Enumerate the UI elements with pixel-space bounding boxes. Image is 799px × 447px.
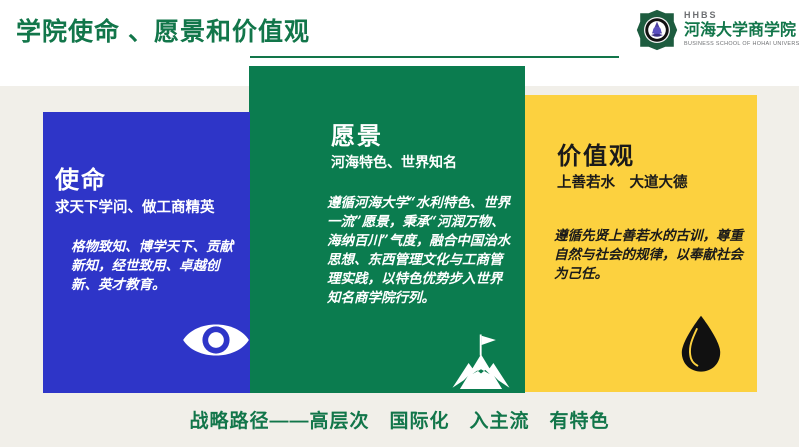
panel-mission-body: 格物致知、博学天下、贡献新知，经世致用、卓越创新、英才教育。 xyxy=(71,238,243,295)
panel-mission-subtitle: 求天下学问、做工商精英 xyxy=(55,196,215,217)
title-divider xyxy=(250,56,619,58)
water-drop-icon xyxy=(677,313,725,375)
panel-vision-subtitle: 河海特色、世界知名 xyxy=(331,152,457,172)
logo-wordmark: HHBS 河海大学商学院 BUSINESS SCHOOL OF HOHAI UN… xyxy=(684,7,794,53)
panel-mission-heading: 使命 xyxy=(55,160,107,195)
footer-strategy-text: 战略路径——高层次 国际化 入主流 有特色 xyxy=(0,406,799,433)
page-title: 学院使命 、愿景和价值观 xyxy=(16,12,310,48)
logo-abbrev: HHBS xyxy=(684,10,794,21)
logo-name-en: BUSINESS SCHOOL OF HOHAI UNIVERSITY xyxy=(684,40,794,48)
logo-name-cn: 河海大学商学院 xyxy=(684,21,794,40)
panel-values-heading: 价值观 xyxy=(557,136,635,171)
mountain-flag-icon xyxy=(450,333,512,393)
eye-icon xyxy=(180,315,252,365)
institution-logo: HHBS 河海大学商学院 BUSINESS SCHOOL OF HOHAI UN… xyxy=(636,7,792,55)
panel-values-subtitle: 上善若水 大道大德 xyxy=(557,171,688,192)
hohai-crest-icon xyxy=(636,9,678,51)
panel-vision-body: 遵循河海大学“水利特色、世界一流”愿景，秉承“河润万物、海纳百川”气度，融合中国… xyxy=(327,194,512,308)
panel-values-body: 遵循先贤上善若水的古训，尊重自然与社会的规律，以奉献社会为己任。 xyxy=(554,227,754,284)
panel-vision-heading: 愿景 xyxy=(331,116,383,151)
slide-canvas: 学院使命 、愿景和价值观 HHBS 河海大学商学院 BUSINESS SCHOO… xyxy=(0,0,799,447)
